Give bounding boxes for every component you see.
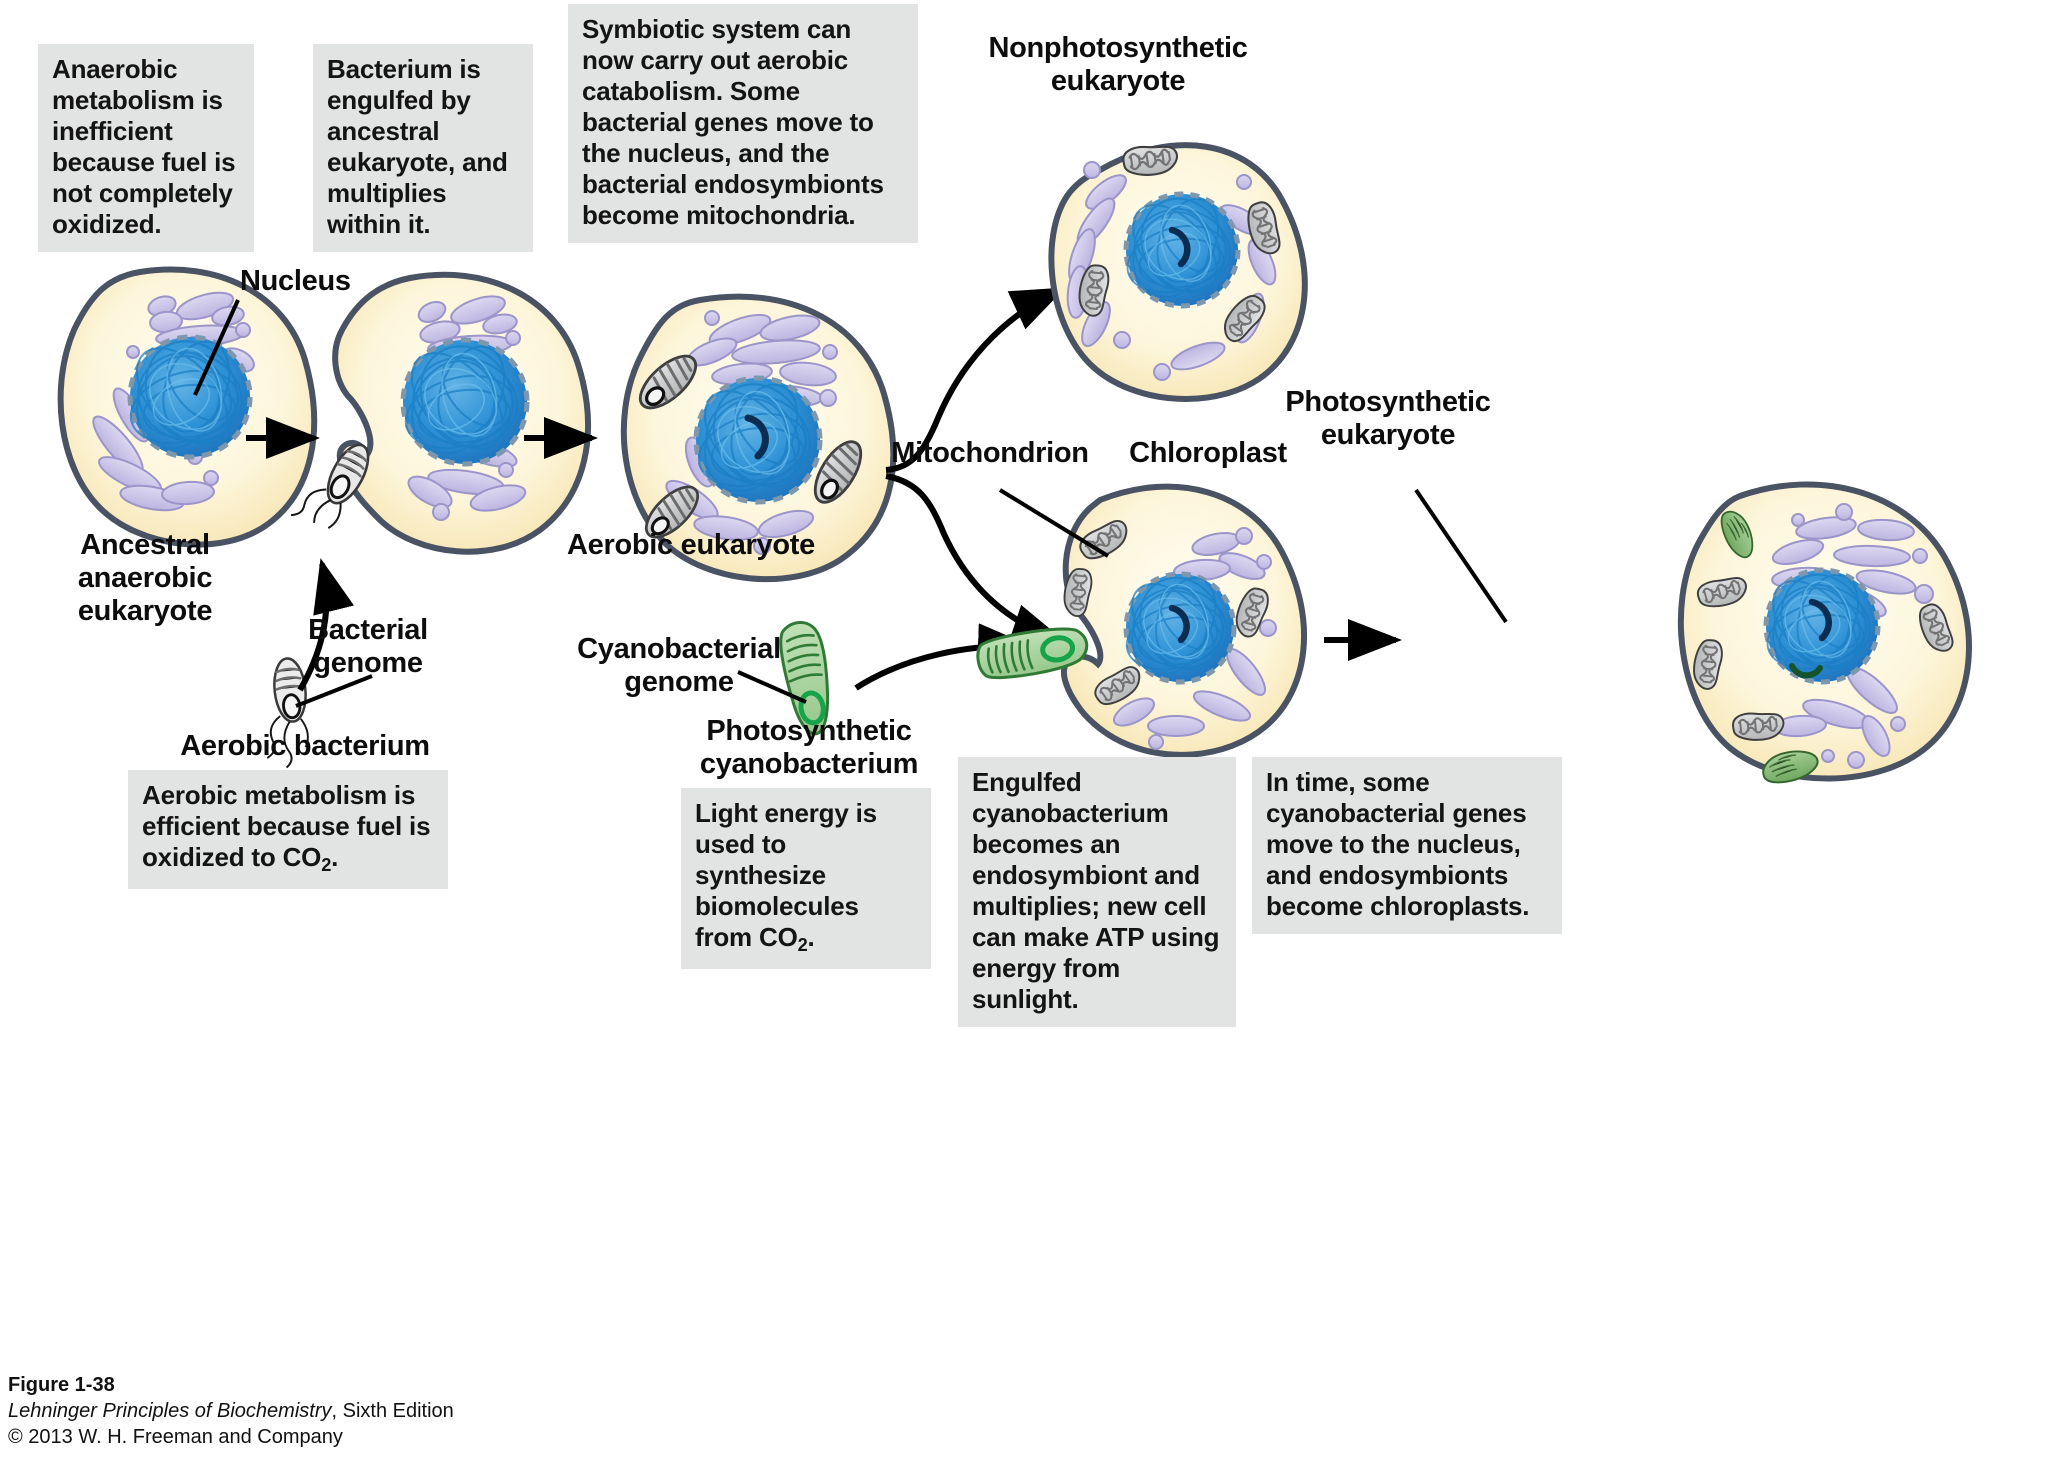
- cell-photosynthetic-eukaryote: [1681, 484, 1969, 786]
- label-ancestral-anaerobic-eukaryote: Ancestral anaerobic eukaryote: [10, 529, 280, 628]
- label-bacterial-genome: Bacterial genome: [303, 614, 433, 680]
- callout-engulfed-cyanobacterium: Engulfed cyanobacterium becomes an endos…: [958, 757, 1236, 1027]
- label-cyanobacterial-genome: Cyanobacterial genome: [569, 633, 789, 699]
- figure-number: Figure 1-38: [8, 1372, 454, 1398]
- callout-chloroplasts-bold: chloroplasts.: [1370, 891, 1529, 921]
- chloroplast-leader-line: [1416, 490, 1506, 622]
- label-nucleus: Nucleus: [240, 265, 351, 298]
- label-nonphotosynthetic-eukaryote: Nonphotosynthetic eukaryote: [930, 32, 1306, 98]
- cell-bacterium-engulfed: [291, 275, 588, 552]
- label-mitochondrion: Mitochondrion: [890, 437, 1090, 470]
- book-edition: , Sixth Edition: [332, 1400, 454, 1422]
- label-photosynthetic-eukaryote: Photosynthetic eukaryote: [1258, 386, 1518, 452]
- cell-nonphotosynthetic-eukaryote: [1051, 142, 1304, 399]
- figure-canvas: Anaerobic metabolism is inefficient beca…: [0, 0, 2053, 1480]
- callout-light-energy: Light energy is used to synthesize biomo…: [681, 788, 931, 969]
- callout-anaerobic-metabolism: Anaerobic metabolism is inefficient beca…: [38, 44, 254, 252]
- callout-symbiotic-bold: mitochondria.: [686, 200, 855, 230]
- label-photosynthetic-cyanobacterium: Photosynthetic cyanobacterium: [694, 715, 924, 781]
- figure-caption: Figure 1-38 Lehninger Principles of Bioc…: [8, 1372, 454, 1450]
- figure-source: Lehninger Principles of Biochemistry, Si…: [8, 1398, 454, 1424]
- subscript-2: 2: [798, 935, 808, 955]
- figure-copyright: © 2013 W. H. Freeman and Company: [8, 1424, 454, 1450]
- callout-symbiotic-system: Symbiotic system can now carry out aerob…: [568, 4, 918, 243]
- label-aerobic-bacterium: Aerobic bacterium: [160, 730, 450, 763]
- callout-bacterium-engulfed: Bacterium is engulfed by ancestral eukar…: [313, 44, 533, 252]
- callout-in-time-chloroplasts: In time, some cyanobacterial genes move …: [1252, 757, 1562, 934]
- label-aerobic-eukaryote: Aerobic eukaryote: [563, 529, 819, 562]
- subscript-2: 2: [321, 855, 331, 875]
- callout-aerobic-metabolism: Aerobic metabolism is efficient because …: [128, 770, 448, 889]
- book-title: Lehninger Principles of Biochemistry: [8, 1400, 332, 1422]
- cell-ancestral-anaerobic-eukaryote: [61, 270, 315, 545]
